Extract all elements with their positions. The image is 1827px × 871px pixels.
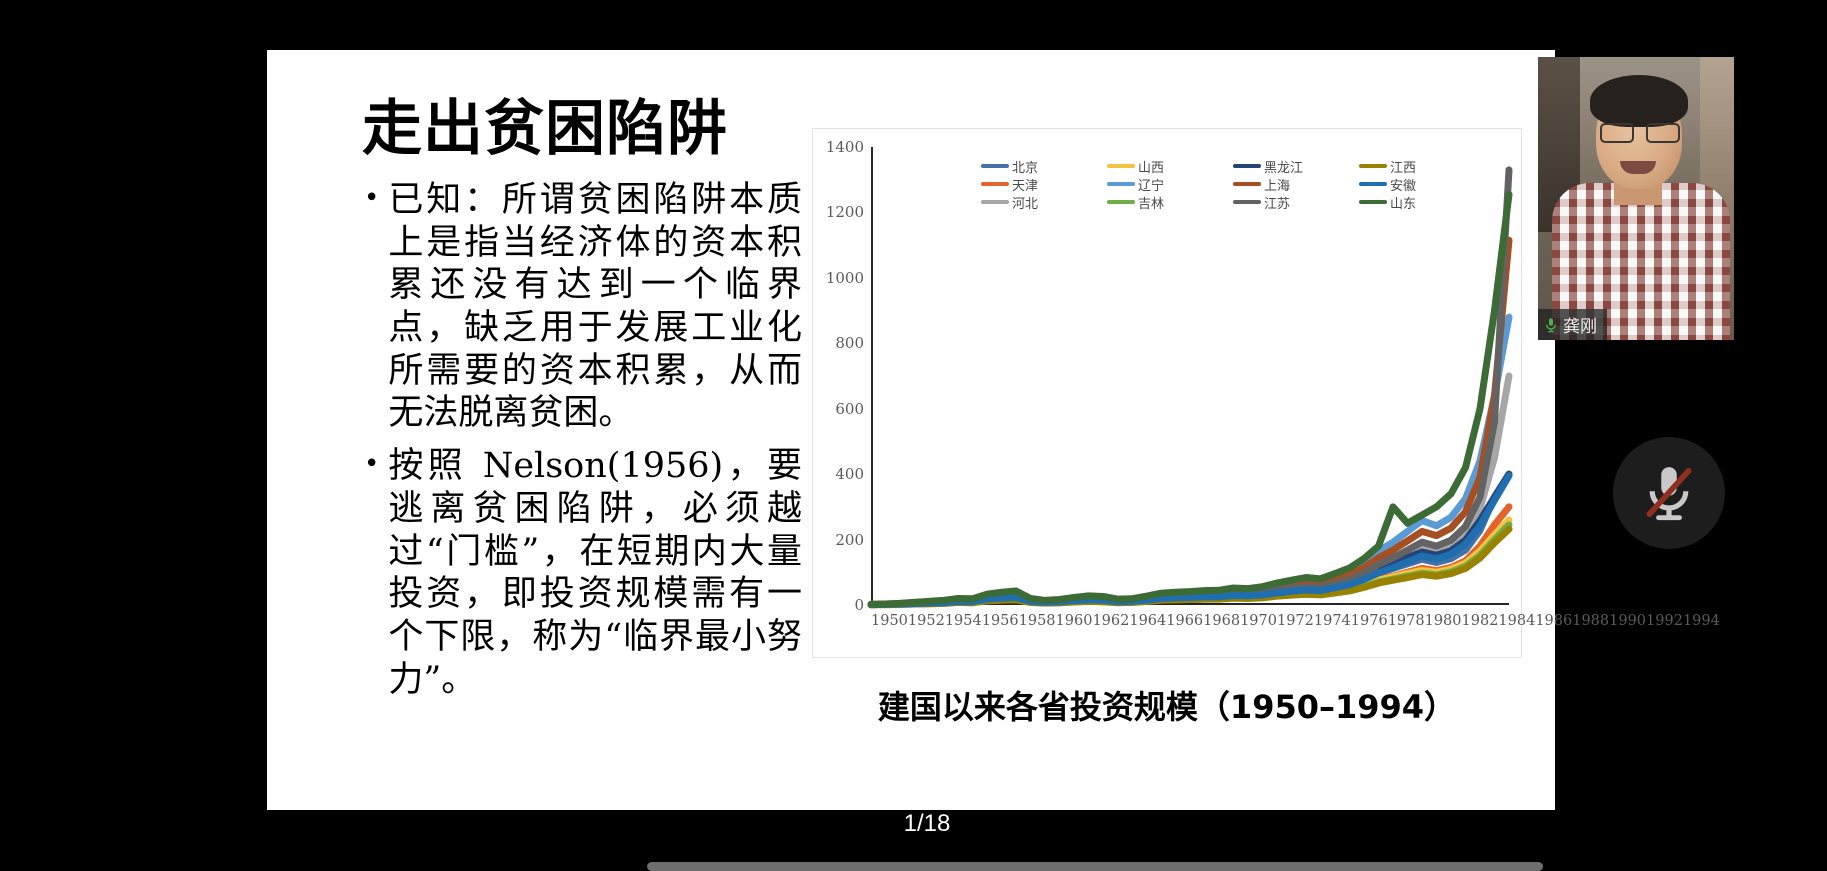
legend-label: 吉林 [1138, 193, 1164, 212]
participant-hair [1590, 75, 1688, 127]
x-axis-tick-label: 1952 [908, 613, 945, 629]
legend-label: 江西 [1390, 157, 1416, 176]
bullet-item-2: • 按照 Nelson(1956)，要逃离贫困陷阱，必须越过“门槛”，在短期内大… [362, 445, 802, 701]
chart-caption: 建国以来各省投资规模（1950–1994） [812, 682, 1522, 728]
y-axis-tick-label: 1000 [826, 269, 864, 287]
horizontal-scrollbar[interactable] [647, 862, 1543, 871]
legend-item: 黑龙江 [1233, 157, 1359, 176]
shared-screen-slide: 走出贫困陷阱 • 已知：所谓贫困陷阱本质上是指当经济体的资本积累还没有达到一个临… [267, 50, 1555, 810]
legend-color-swatch [1359, 164, 1387, 168]
legend-label: 辽宁 [1138, 175, 1164, 194]
x-axis-tick-label: 1958 [1019, 613, 1056, 629]
y-axis-tick-label: 800 [835, 334, 864, 352]
legend-item: 天津 [981, 175, 1107, 194]
x-axis-tick-label: 1970 [1240, 613, 1277, 629]
slide-chart-column: 0200400600800100012001400 19501952195419… [812, 50, 1555, 810]
legend-label: 北京 [1012, 157, 1038, 176]
x-axis-tick-label: 1982 [1462, 613, 1499, 629]
legend-label: 江苏 [1264, 193, 1290, 212]
legend-item: 安徽 [1359, 175, 1485, 194]
zoom-meeting-window: 走出贫困陷阱 • 已知：所谓贫困陷阱本质上是指当经济体的资本积累还没有达到一个临… [0, 0, 1827, 871]
legend-item: 河北 [981, 193, 1107, 212]
legend-label: 山西 [1138, 157, 1164, 176]
legend-item: 北京 [981, 157, 1107, 176]
slide-page-indicator: 1/18 [867, 810, 987, 838]
legend-label: 天津 [1012, 175, 1038, 194]
legend-color-swatch [981, 200, 1009, 204]
participant-video-tile[interactable]: 龚刚 [1538, 57, 1734, 340]
legend-label: 山东 [1390, 193, 1416, 212]
glasses-icon [1600, 123, 1680, 140]
legend-color-swatch [981, 182, 1009, 186]
legend-color-swatch [1107, 200, 1135, 204]
x-axis-ticks: 1950195219541956195819601962196419661968… [871, 613, 1509, 629]
x-axis-tick-label: 1980 [1425, 613, 1462, 629]
legend-color-swatch [1233, 182, 1261, 186]
y-axis-tick-label: 0 [854, 596, 864, 614]
x-axis-tick-label: 1994 [1683, 613, 1720, 629]
mute-toggle-button[interactable] [1613, 437, 1725, 549]
legend-color-swatch [981, 164, 1009, 168]
legend-label: 上海 [1264, 175, 1290, 194]
x-axis-tick-label: 1984 [1498, 613, 1535, 629]
x-axis-tick-label: 1978 [1388, 613, 1425, 629]
y-axis-tick-label: 1400 [826, 138, 864, 156]
bullet-text-1: 已知：所谓贫困陷阱本质上是指当经济体的资本积累还没有达到一个临界点，缺乏用于发展… [388, 179, 802, 435]
bullet-text-2: 按照 Nelson(1956)，要逃离贫困陷阱，必须越过“门槛”，在短期内大量投… [388, 445, 802, 701]
legend-color-swatch [1233, 164, 1261, 168]
x-axis-tick-label: 1960 [1056, 613, 1093, 629]
legend-color-swatch [1107, 182, 1135, 186]
participant-name: 龚刚 [1563, 312, 1597, 337]
chart-legend: 北京山西黑龙江江西天津辽宁上海安徽河北吉林江苏山东 [981, 157, 1485, 211]
legend-color-swatch [1359, 182, 1387, 186]
y-axis-tick-label: 600 [835, 400, 864, 418]
legend-color-swatch [1233, 200, 1261, 204]
chart-series-line [871, 194, 1509, 604]
x-axis-tick-label: 1956 [982, 613, 1019, 629]
legend-label: 黑龙江 [1264, 157, 1303, 176]
x-axis-tick-label: 1950 [871, 613, 908, 629]
chart-plot-area: 0200400600800100012001400 19501952195419… [871, 147, 1509, 605]
x-axis-tick-label: 1974 [1314, 613, 1351, 629]
y-axis-tick-label: 400 [835, 465, 864, 483]
legend-item: 山西 [1107, 157, 1233, 176]
x-axis-tick-label: 1962 [1092, 613, 1129, 629]
slide-text-column: 走出贫困陷阱 • 已知：所谓贫困陷阱本质上是指当经济体的资本积累还没有达到一个临… [267, 50, 812, 810]
legend-item: 山东 [1359, 193, 1485, 212]
legend-item: 吉林 [1107, 193, 1233, 212]
y-axis-tick-label: 200 [835, 531, 864, 549]
bullet-marker-icon: • [362, 445, 388, 484]
investment-line-chart: 0200400600800100012001400 19501952195419… [812, 128, 1522, 658]
x-axis-tick-label: 1986 [1535, 613, 1572, 629]
x-axis-tick-label: 1972 [1277, 613, 1314, 629]
x-axis-tick-label: 1992 [1646, 613, 1683, 629]
bullet-item-1: • 已知：所谓贫困陷阱本质上是指当经济体的资本积累还没有达到一个临界点，缺乏用于… [362, 179, 802, 435]
microphone-icon [1543, 316, 1559, 334]
chart-series-svg [871, 147, 1509, 605]
x-axis-tick-label: 1964 [1129, 613, 1166, 629]
x-axis-tick-label: 1988 [1572, 613, 1609, 629]
bullet-marker-icon: • [362, 179, 388, 218]
x-axis-tick-label: 1954 [945, 613, 982, 629]
legend-label: 河北 [1012, 193, 1038, 212]
legend-item: 上海 [1233, 175, 1359, 194]
legend-item: 辽宁 [1107, 175, 1233, 194]
legend-color-swatch [1107, 164, 1135, 168]
y-axis-tick-label: 1200 [826, 203, 864, 221]
page-title: 走出贫困陷阱 [362, 98, 802, 161]
legend-color-swatch [1359, 200, 1387, 204]
legend-label: 安徽 [1390, 175, 1416, 194]
microphone-muted-icon [1638, 462, 1700, 524]
x-axis-tick-label: 1966 [1166, 613, 1203, 629]
x-axis-tick-label: 1976 [1351, 613, 1388, 629]
x-axis-tick-label: 1968 [1203, 613, 1240, 629]
legend-item: 江西 [1359, 157, 1485, 176]
x-axis-tick-label: 1990 [1609, 613, 1646, 629]
participant-name-badge: 龚刚 [1538, 309, 1607, 340]
legend-item: 江苏 [1233, 193, 1359, 212]
